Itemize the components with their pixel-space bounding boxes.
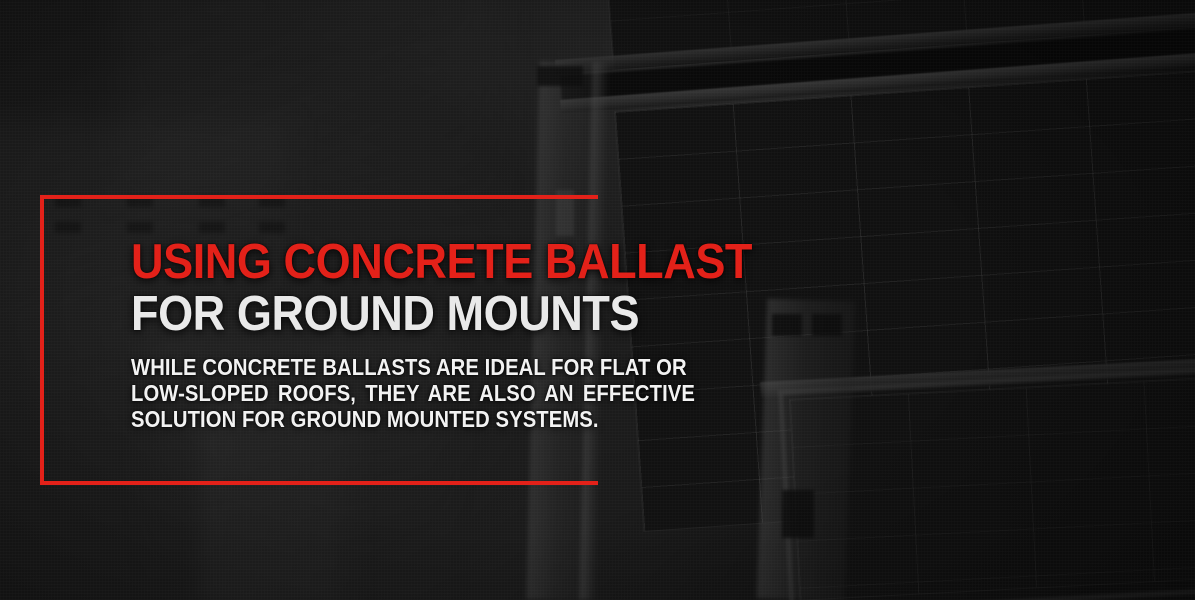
text-block: USING CONCRETE BALLAST FOR GROUND MOUNTS…	[131, 236, 731, 432]
headline-line-2: FOR GROUND MOUNTS	[131, 288, 683, 340]
red-frame-bottom	[40, 481, 598, 485]
promo-banner: USING CONCRETE BALLAST FOR GROUND MOUNTS…	[0, 0, 1195, 600]
subheading-line-2: LOW-SLOPED ROOFS, THEY ARE ALSO AN EFFEC…	[131, 380, 659, 406]
subheading-line-1: WHILE CONCRETE BALLASTS ARE IDEAL FOR FL…	[131, 354, 659, 380]
subheading: WHILE CONCRETE BALLASTS ARE IDEAL FOR FL…	[131, 354, 659, 432]
headline-line-1: USING CONCRETE BALLAST	[131, 236, 683, 288]
red-frame-top	[40, 195, 598, 199]
red-frame-left	[40, 195, 44, 485]
subheading-line-3: SOLUTION FOR GROUND MOUNTED SYSTEMS.	[131, 406, 659, 432]
page-title: USING CONCRETE BALLAST FOR GROUND MOUNTS	[131, 236, 683, 340]
